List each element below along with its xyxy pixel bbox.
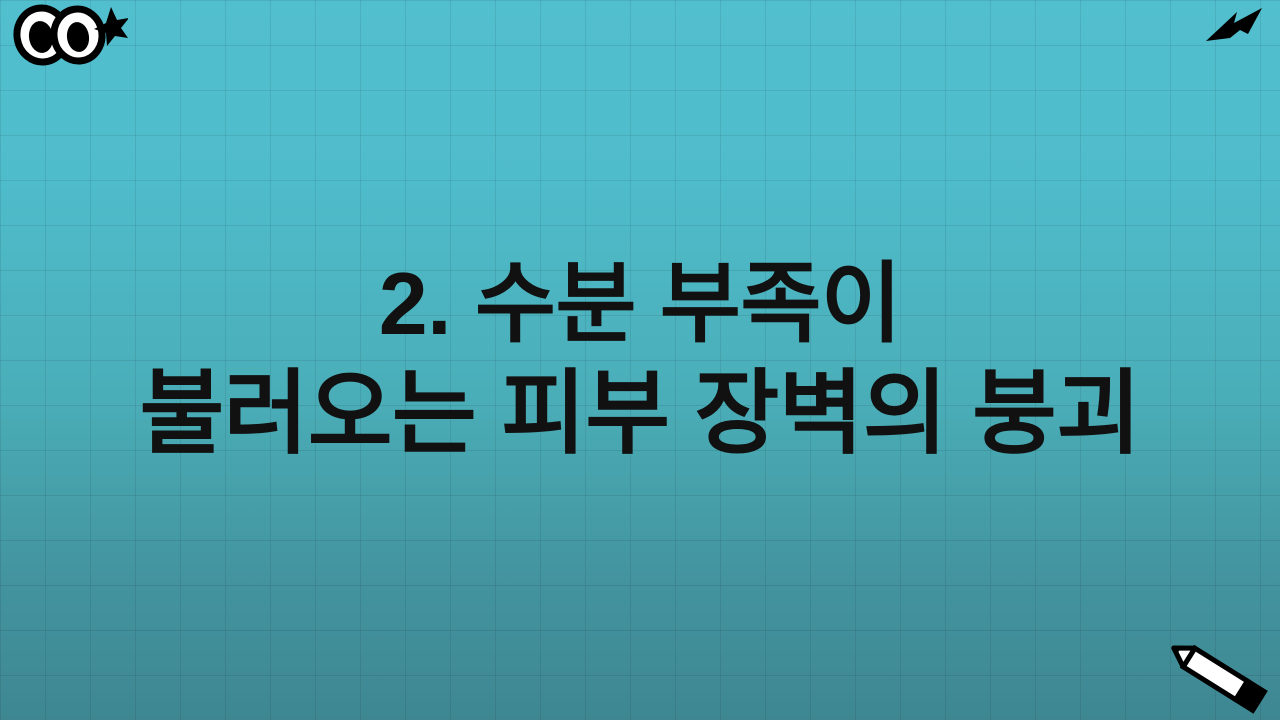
slide-canvas: 2. 수분 부족이 불러오는 피부 장벽의 붕괴 — [0, 0, 1280, 720]
title-line-2: 불러오는 피부 장벽의 붕괴 — [140, 358, 1141, 470]
title-line-1: 2. 수분 부족이 — [379, 250, 902, 357]
page-title: 2. 수분 부족이 불러오는 피부 장벽의 붕괴 — [0, 0, 1280, 720]
